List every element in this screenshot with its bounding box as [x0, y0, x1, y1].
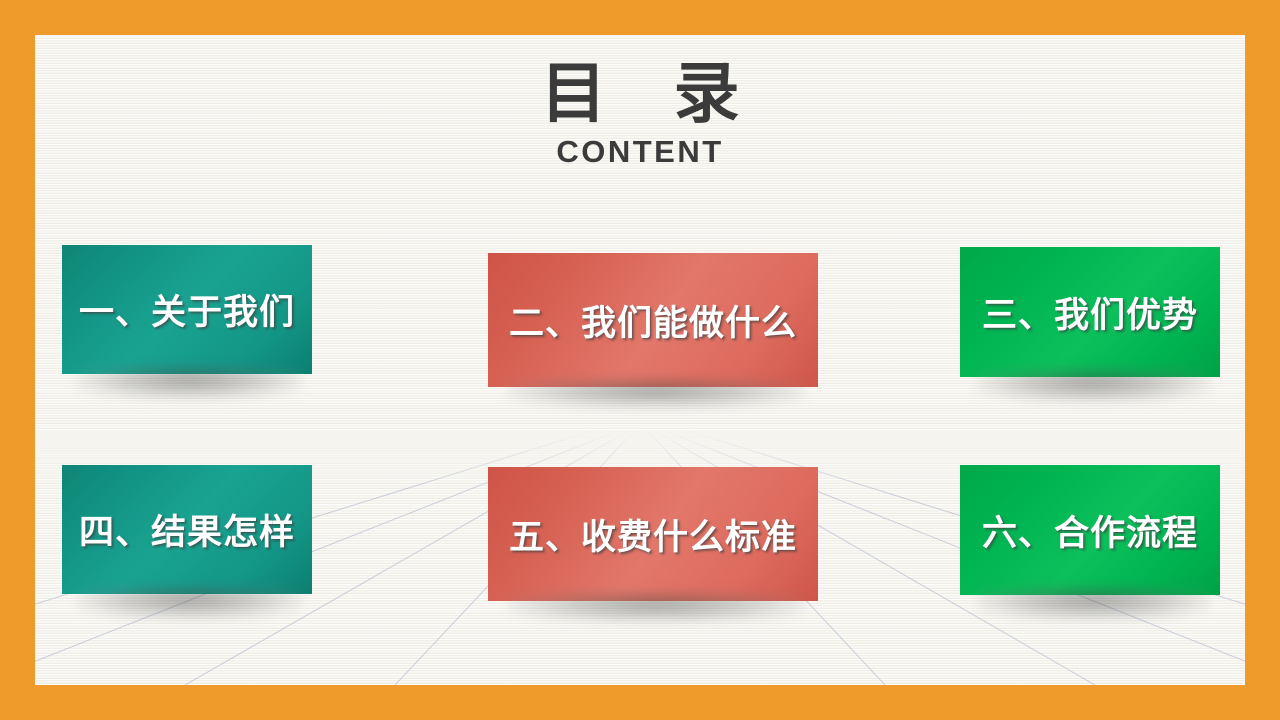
- content-card-label: 二、我们能做什么: [509, 295, 797, 346]
- slide-header: 目 录 CONTENT: [35, 59, 1245, 170]
- content-card-4[interactable]: 四、结果怎样: [62, 465, 312, 594]
- content-card-label: 五、收费什么标准: [509, 509, 797, 560]
- content-card-1[interactable]: 一、关于我们: [62, 245, 312, 374]
- content-card-label: 六、合作流程: [982, 505, 1198, 556]
- content-card-2[interactable]: 二、我们能做什么: [488, 253, 818, 387]
- page-title: 目 录: [35, 59, 1245, 128]
- content-card-5[interactable]: 五、收费什么标准: [488, 467, 818, 601]
- page-subtitle: CONTENT: [35, 134, 1245, 170]
- content-card-label: 一、关于我们: [79, 284, 295, 335]
- content-card-3[interactable]: 三、我们优势: [960, 247, 1220, 377]
- slide-content-area: 目 录 CONTENT 一、关于我们 二、我们能做什么 三、我们优势 四、结果怎…: [35, 35, 1245, 685]
- content-card-6[interactable]: 六、合作流程: [960, 465, 1220, 595]
- content-card-label: 三、我们优势: [982, 287, 1198, 338]
- slide-canvas: 目 录 CONTENT 一、关于我们 二、我们能做什么 三、我们优势 四、结果怎…: [0, 0, 1280, 720]
- content-card-label: 四、结果怎样: [79, 504, 295, 555]
